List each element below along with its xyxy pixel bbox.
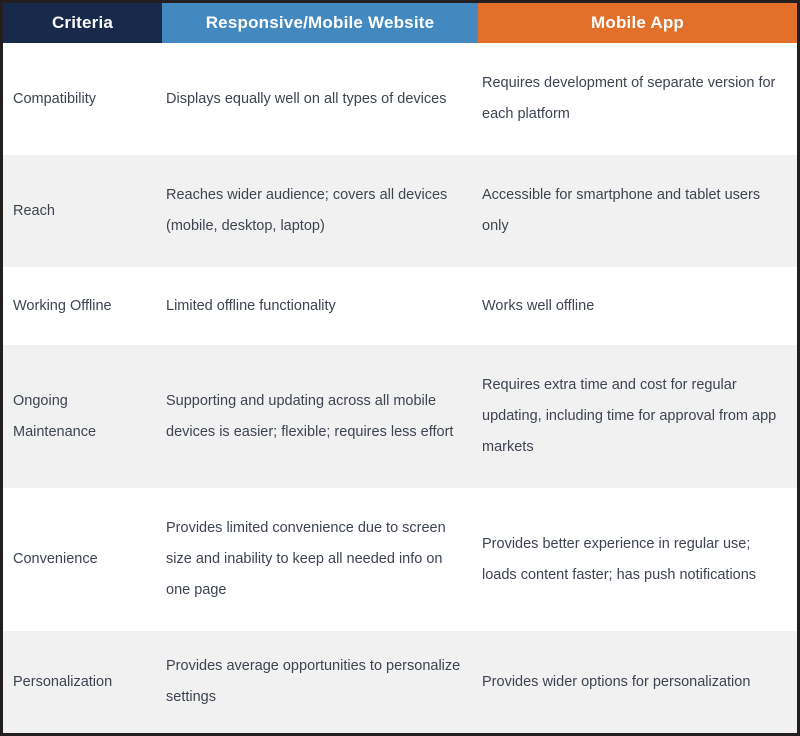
table-row: Compatibility Displays equally well on a… <box>3 43 797 155</box>
cell-criteria: Convenience <box>3 488 162 631</box>
table-row: Working Offline Limited offline function… <box>3 267 797 345</box>
column-header-responsive-mobile-website: Responsive/Mobile Website <box>162 3 478 43</box>
table-row: Ongoing Maintenance Supporting and updat… <box>3 345 797 488</box>
comparison-table: Criteria Responsive/Mobile Website Mobil… <box>0 0 800 736</box>
cell-criteria-text: Working Offline <box>13 291 148 322</box>
cell-app-text: Works well offline <box>482 291 789 322</box>
cell-criteria: Compatibility <box>3 43 162 155</box>
column-header-mobile-app-label: Mobile App <box>591 13 684 33</box>
cell-app-text: Requires extra time and cost for regular… <box>482 370 789 463</box>
cell-app-text: Provides wider options for personalizati… <box>482 667 789 698</box>
table-row: Convenience Provides limited convenience… <box>3 488 797 631</box>
cell-criteria-text: Personalization <box>13 667 148 698</box>
cell-app-text: Provides better experience in regular us… <box>482 529 789 591</box>
cell-app: Accessible for smartphone and tablet use… <box>478 155 797 267</box>
column-header-mobile-app: Mobile App <box>478 3 797 43</box>
cell-criteria-text: Convenience <box>13 544 148 575</box>
cell-website: Provides average opportunities to person… <box>162 631 478 733</box>
cell-app: Requires development of separate version… <box>478 43 797 155</box>
cell-website: Provides limited convenience due to scre… <box>162 488 478 631</box>
table-header-row: Criteria Responsive/Mobile Website Mobil… <box>3 3 797 43</box>
cell-app: Requires extra time and cost for regular… <box>478 345 797 488</box>
cell-website-text: Supporting and updating across all mobil… <box>166 386 462 448</box>
cell-criteria: Personalization <box>3 631 162 733</box>
cell-app: Provides wider options for personalizati… <box>478 631 797 733</box>
cell-website-text: Displays equally well on all types of de… <box>166 84 462 115</box>
cell-website: Supporting and updating across all mobil… <box>162 345 478 488</box>
cell-criteria-text: Reach <box>13 196 148 227</box>
cell-app-text: Accessible for smartphone and tablet use… <box>482 180 789 242</box>
table-row: Personalization Provides average opportu… <box>3 631 797 733</box>
cell-website: Reaches wider audience; covers all devic… <box>162 155 478 267</box>
cell-website-text: Provides average opportunities to person… <box>166 651 462 713</box>
cell-criteria: Ongoing Maintenance <box>3 345 162 488</box>
column-header-criteria-label: Criteria <box>52 13 113 33</box>
table-row: Reach Reaches wider audience; covers all… <box>3 155 797 267</box>
cell-criteria: Working Offline <box>3 267 162 345</box>
table-body: Compatibility Displays equally well on a… <box>3 43 797 733</box>
cell-website-text: Limited offline functionality <box>166 291 462 322</box>
cell-criteria-text: Compatibility <box>13 84 148 115</box>
cell-website: Displays equally well on all types of de… <box>162 43 478 155</box>
column-header-criteria: Criteria <box>3 3 162 43</box>
column-header-responsive-mobile-website-label: Responsive/Mobile Website <box>206 13 435 33</box>
cell-criteria-text: Ongoing Maintenance <box>13 386 148 448</box>
cell-website-text: Provides limited convenience due to scre… <box>166 513 462 606</box>
cell-website-text: Reaches wider audience; covers all devic… <box>166 180 462 242</box>
cell-app: Works well offline <box>478 267 797 345</box>
cell-website: Limited offline functionality <box>162 267 478 345</box>
cell-criteria: Reach <box>3 155 162 267</box>
cell-app-text: Requires development of separate version… <box>482 68 789 130</box>
cell-app: Provides better experience in regular us… <box>478 488 797 631</box>
